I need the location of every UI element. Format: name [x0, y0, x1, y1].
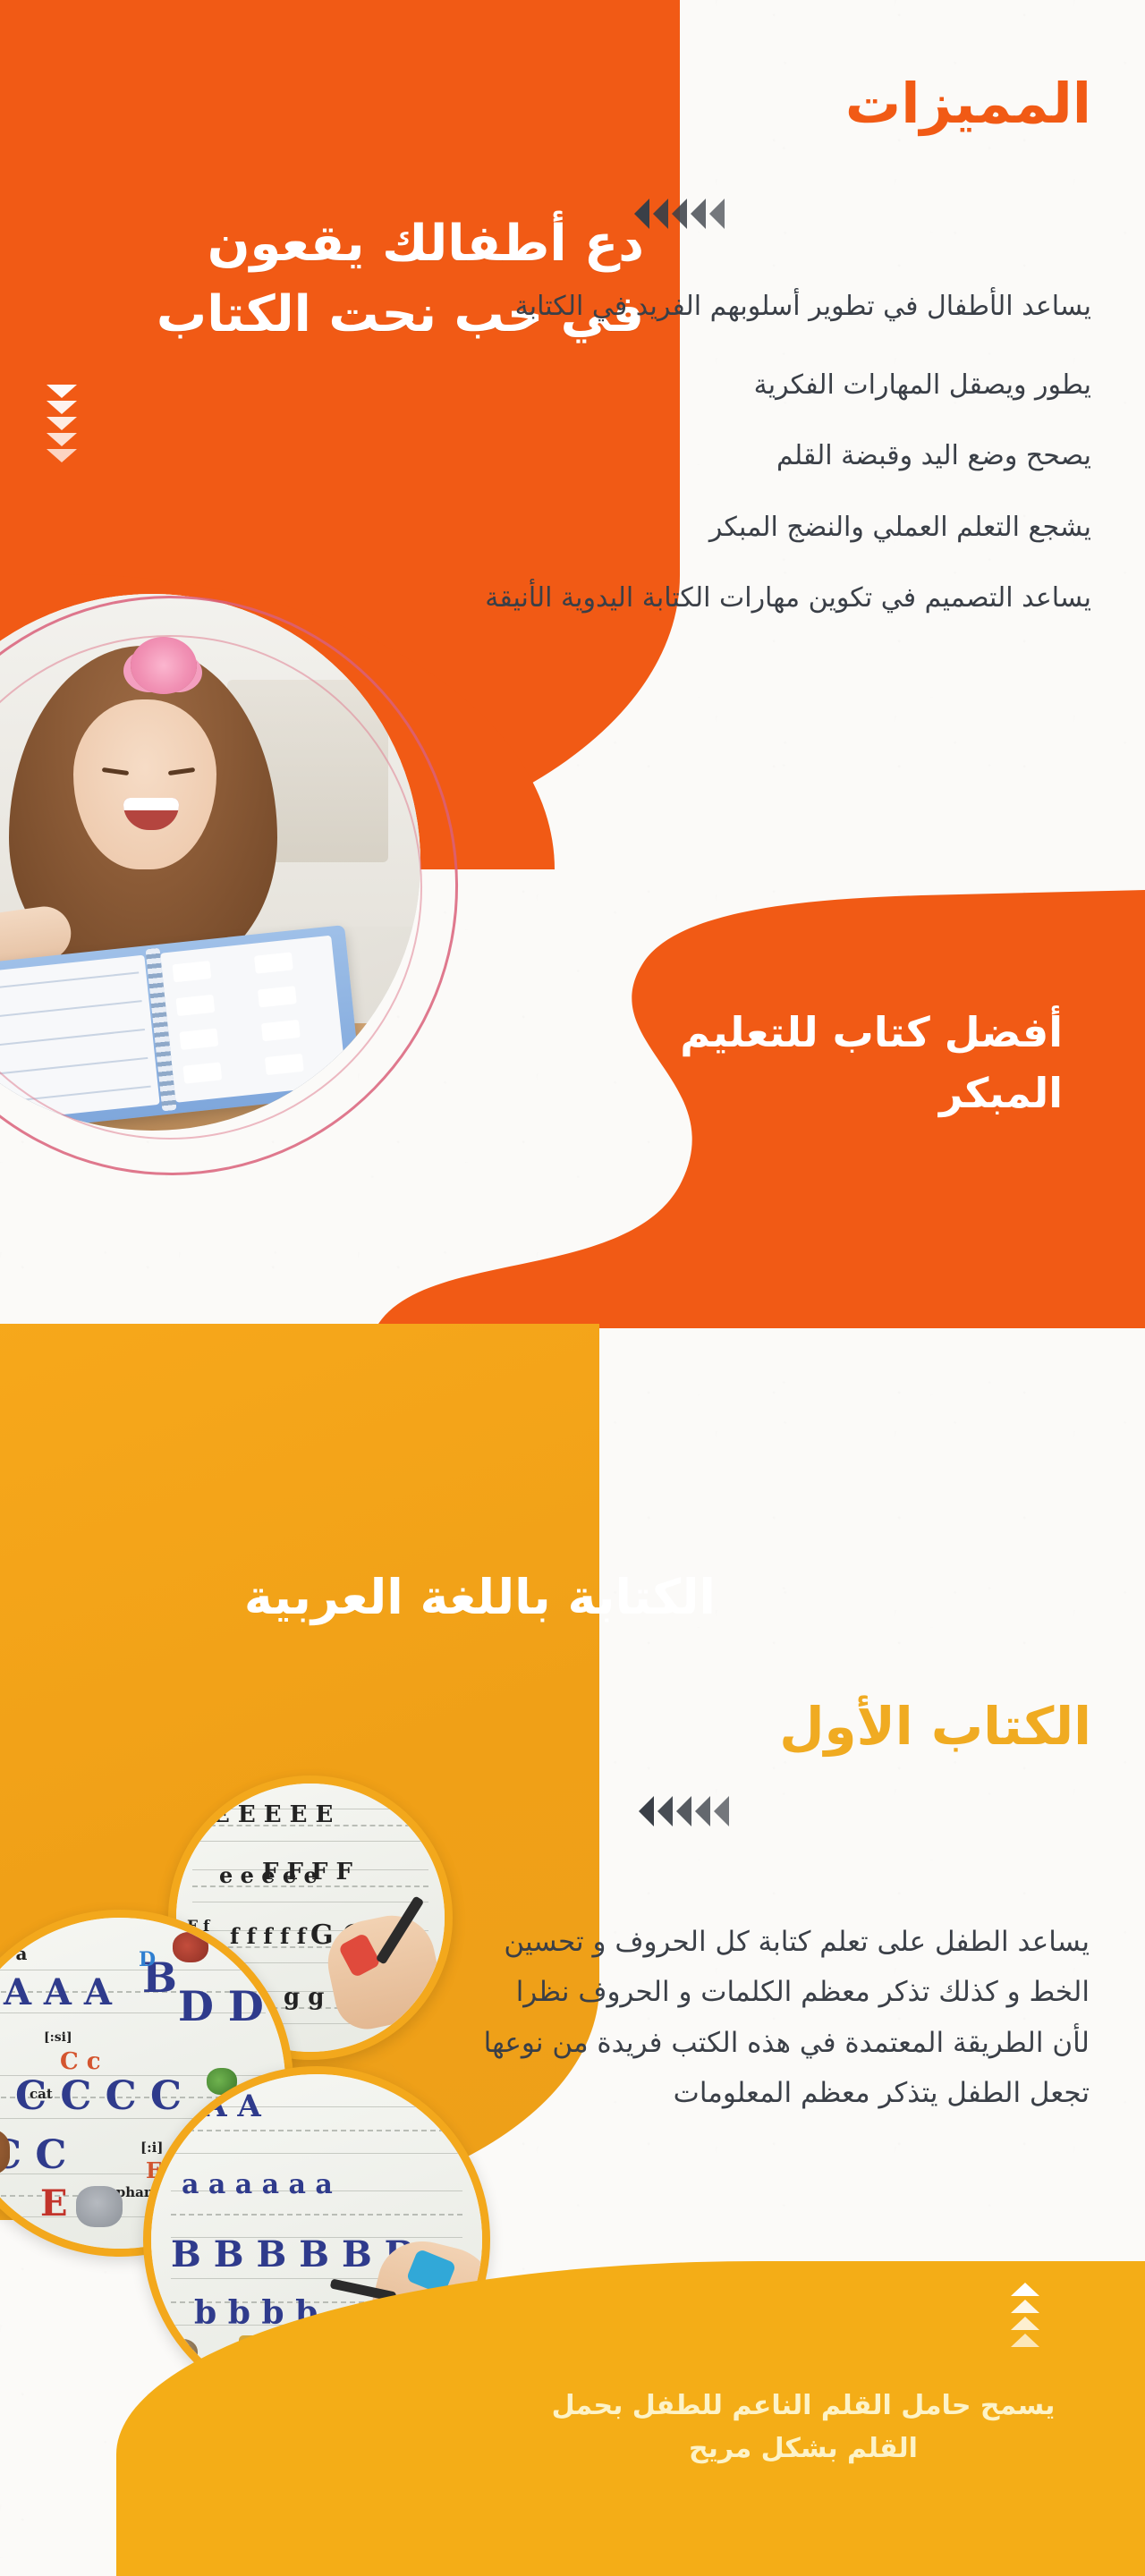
chevron-up-icon	[1011, 2334, 1039, 2347]
chevron-left-icon	[657, 1796, 673, 1826]
chevron-left-icon	[709, 199, 725, 229]
chevron-left-icon	[695, 1796, 710, 1826]
chevron-down-icon	[47, 417, 77, 430]
list-item: يطور ويصقل المهارات الفكرية	[447, 365, 1091, 406]
chevron-down-icon	[47, 401, 77, 414]
chevron-up-icon	[1011, 2300, 1039, 2313]
best-book-banner-text: أفضل كتاب للتعليم المبكر	[615, 1002, 1063, 1123]
chevron-up-icon	[1011, 2283, 1039, 2296]
down-chevron-group	[47, 385, 77, 462]
chevron-left-icon	[639, 1796, 654, 1826]
features-chevron-group	[634, 199, 725, 229]
chevron-left-icon	[691, 199, 706, 229]
list-item: يساعد الأطفال في تطوير أسلوبهم الفريد في…	[447, 286, 1091, 327]
features-heading: المميزات	[845, 71, 1091, 136]
chevron-left-icon	[676, 1796, 691, 1826]
list-item: يساعد التصميم في تكوين مهارات الكتابة ال…	[447, 578, 1091, 619]
chevron-left-icon	[634, 199, 649, 229]
soft-pen-holder-text: يسمح حامل القلم الناعم للطفل بحمل القلم …	[544, 2385, 1063, 2470]
first-book-section: الكتابة باللغة العربية الكتاب الأول يساع…	[0, 1324, 1145, 2576]
first-book-heading: الكتاب الأول	[779, 1696, 1091, 1757]
chevron-down-icon	[47, 433, 77, 446]
arabic-writing-banner-title: الكتابة باللغة العربية	[215, 1563, 716, 1632]
chevron-left-icon	[672, 199, 687, 229]
first-book-chevron-group	[639, 1796, 729, 1826]
chevron-left-icon	[653, 199, 668, 229]
first-book-paragraph: يساعد الطفل على تعلم كتابة كل الحروف و ت…	[472, 1917, 1090, 2119]
up-chevron-group	[1011, 2283, 1039, 2347]
chevron-left-icon	[714, 1796, 729, 1826]
features-section: دع أطفالك يقعون في حب نحت الكتاب المميزا…	[0, 0, 1145, 1324]
infographic-page: دع أطفالك يقعون في حب نحت الكتاب المميزا…	[0, 0, 1145, 2576]
feature-list: يساعد الأطفال في تطوير أسلوبهم الفريد في…	[447, 286, 1091, 619]
chevron-up-icon	[1011, 2317, 1039, 2330]
yellow-footer-base	[224, 2478, 1145, 2576]
chevron-down-icon	[47, 449, 77, 462]
chevron-down-icon	[47, 385, 77, 398]
list-item: يشجع التعلم العملي والنضج المبكر	[447, 507, 1091, 548]
list-item: يصحح وضع اليد وقبضة القلم	[447, 436, 1091, 477]
